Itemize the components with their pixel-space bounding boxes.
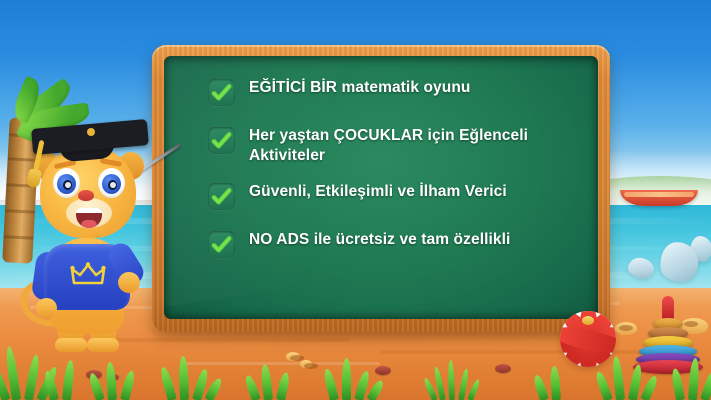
lion-hand-right <box>118 272 140 293</box>
check-icon <box>208 183 235 210</box>
beach-ball-cap <box>582 316 594 325</box>
feature-text: Güvenli, Etkileşimli ve İlham Verici <box>249 182 507 202</box>
feature-list: EĞİTİCİ BİR matematik oyunu Her yaştan Ç… <box>208 78 572 278</box>
graduation-cap-button <box>87 128 95 136</box>
list-item: EĞİTİCİ BİR matematik oyunu <box>208 78 572 106</box>
lion-eye <box>98 168 125 198</box>
check-icon <box>208 127 235 154</box>
stacking-rings-toy <box>632 296 704 368</box>
chalkboard-frame: EĞİTİCİ BİR matematik oyunu Her yaştan Ç… <box>152 45 610 332</box>
feature-text: Her yaştan ÇOCUKLAR için Eğlenceli Aktiv… <box>249 126 572 166</box>
graduation-cap-board <box>31 119 149 155</box>
lion-foot <box>55 338 87 352</box>
seashell <box>300 360 312 368</box>
list-item: NO ADS ile ücretsiz ve tam özellikli <box>208 230 572 258</box>
lion-eye <box>53 168 80 198</box>
check-icon <box>208 79 235 106</box>
promo-screenshot: EĞİTİCİ BİR matematik oyunu Her yaştan Ç… <box>0 0 711 400</box>
list-item: Güvenli, Etkileşimli ve İlham Verici <box>208 182 572 210</box>
feature-text: NO ADS ile ücretsiz ve tam özellikli <box>249 230 510 250</box>
pebble <box>375 366 391 375</box>
crown-icon <box>70 262 106 288</box>
feature-text: EĞİTİCİ BİR matematik oyunu <box>249 78 470 98</box>
lion-nose <box>78 190 94 201</box>
check-icon <box>208 231 235 258</box>
chalkboard-surface: EĞİTİCİ BİR matematik oyunu Her yaştan Ç… <box>164 56 598 319</box>
seashell <box>286 352 300 361</box>
list-item: Her yaştan ÇOCUKLAR için Eğlenceli Aktiv… <box>208 126 572 166</box>
lion-foot <box>87 338 119 352</box>
mascot-lion <box>14 112 164 360</box>
boat <box>620 190 698 206</box>
lion-hand-left <box>36 298 57 318</box>
pebble <box>495 364 511 373</box>
